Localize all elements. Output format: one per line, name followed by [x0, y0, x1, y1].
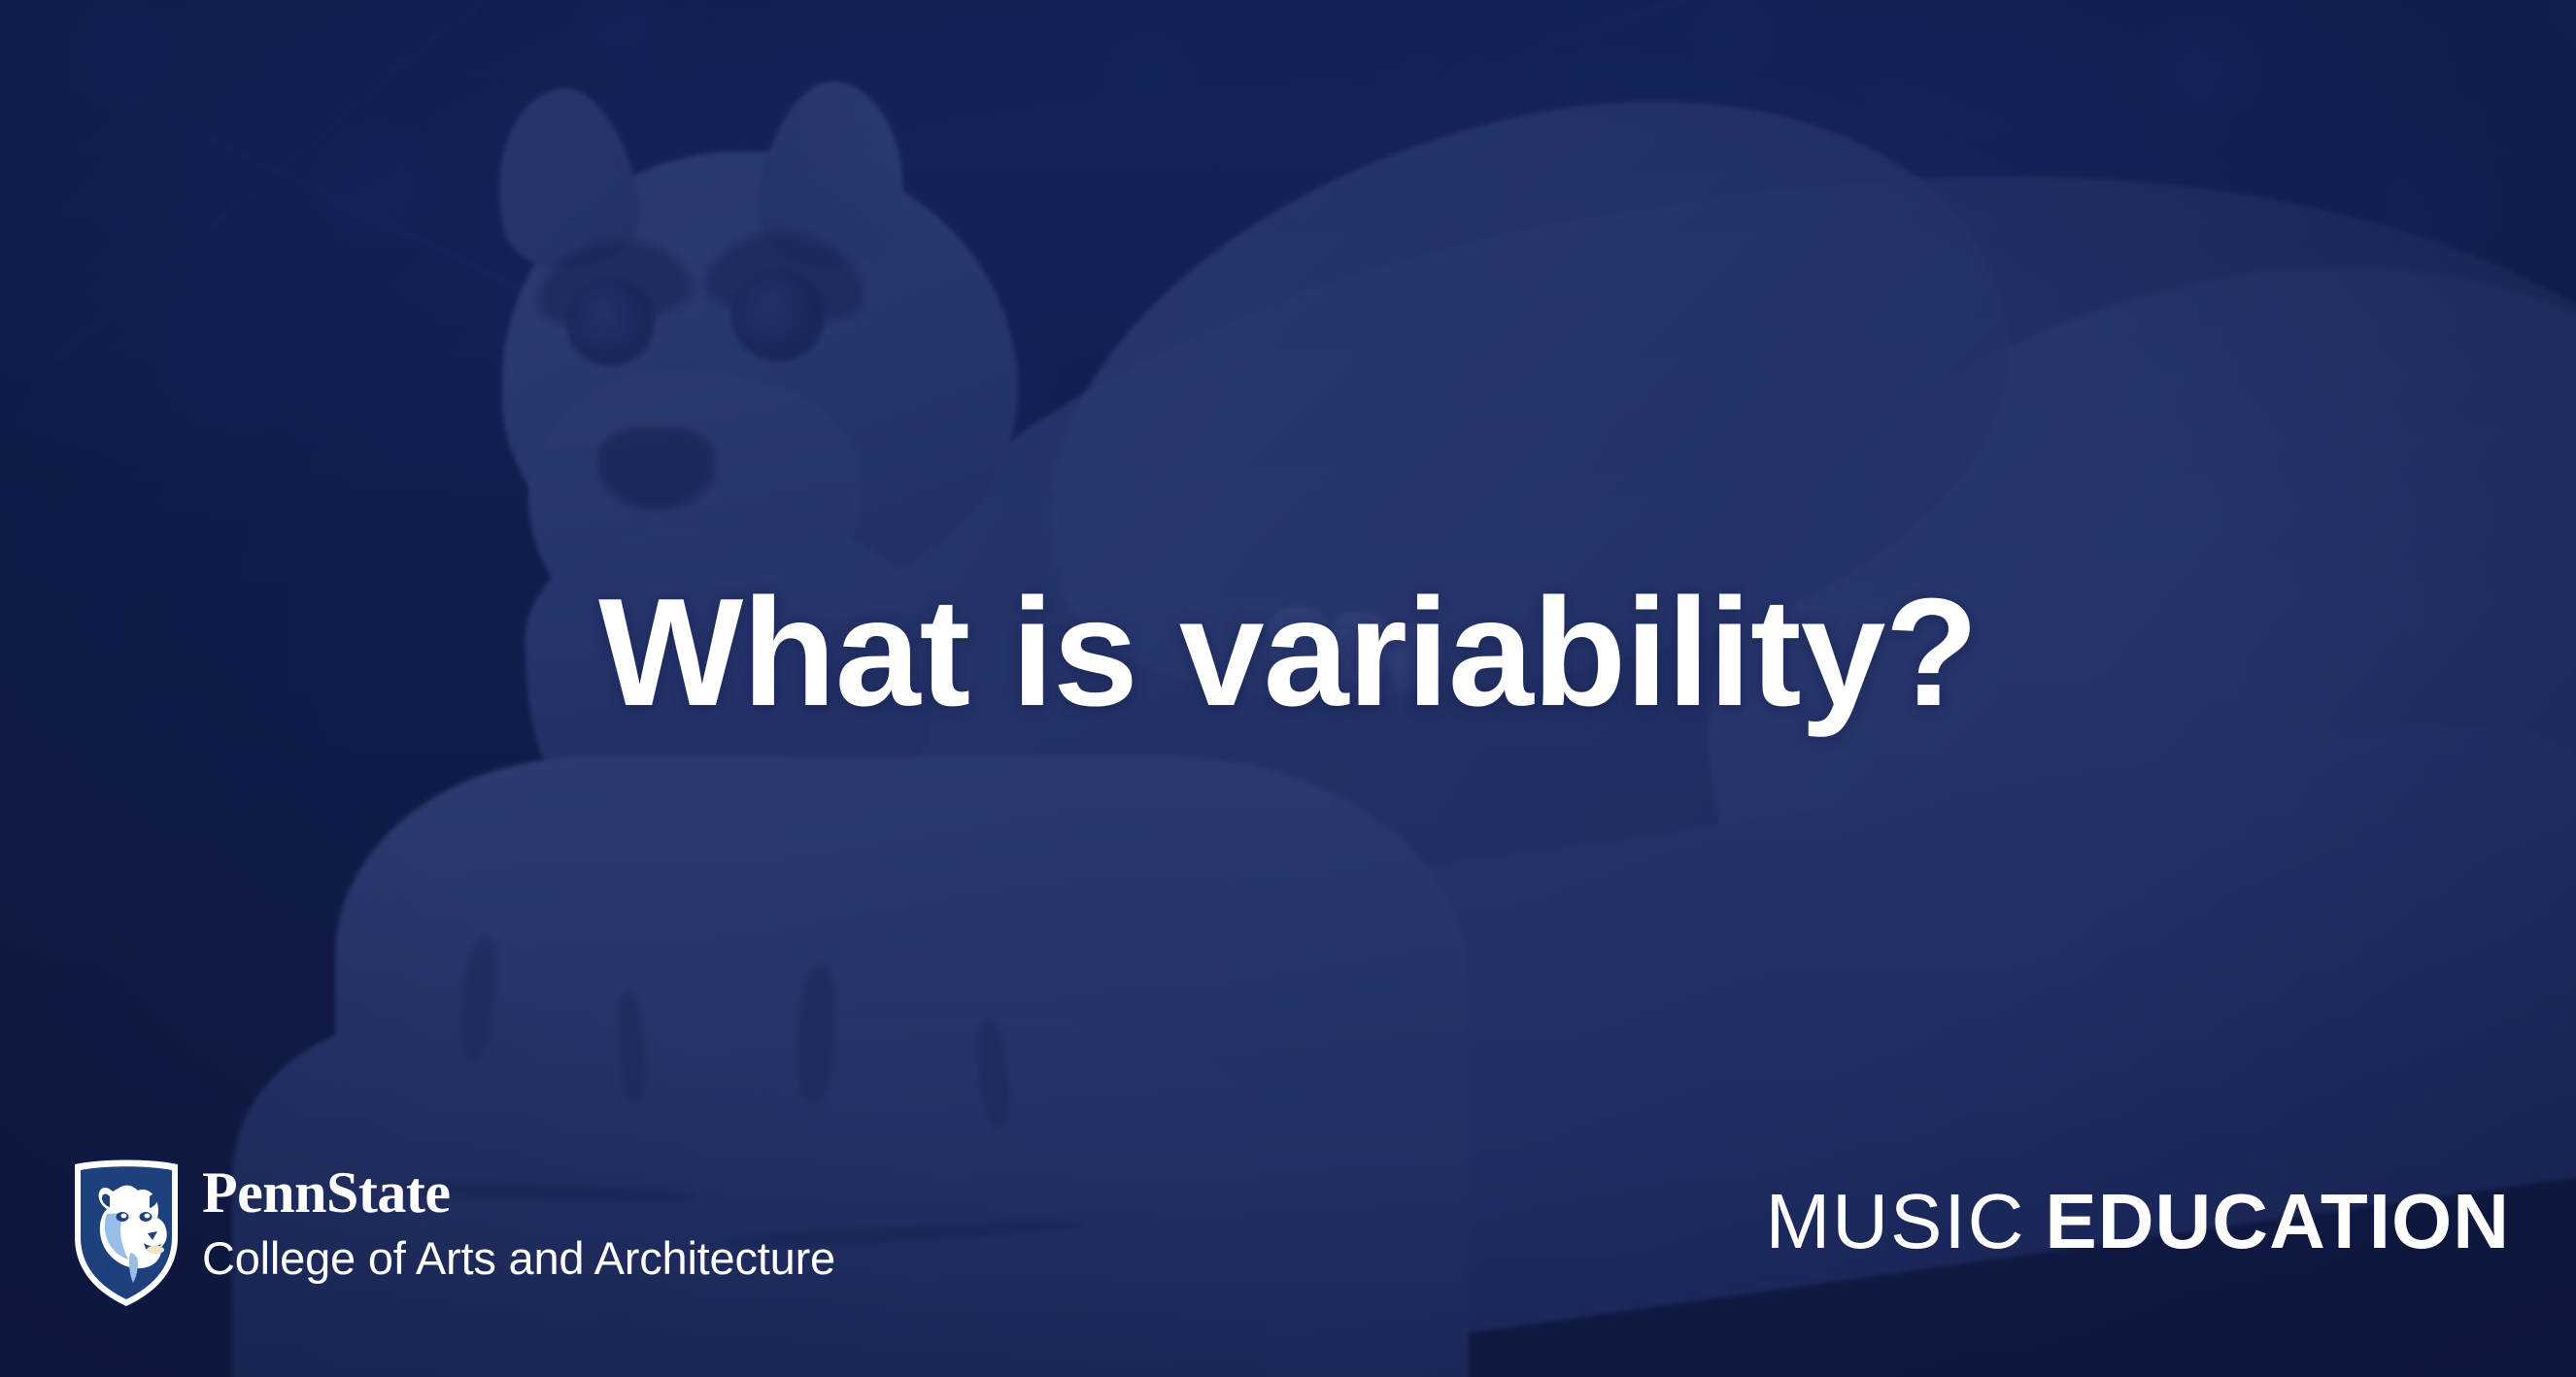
slide-title: What is variability?: [0, 573, 2576, 734]
penn-state-logo-lockup: PennState College of Arts and Architectu…: [72, 1156, 835, 1309]
music-education-word-education: EDUCATION: [2045, 1177, 2510, 1266]
presentation-slide: What is variability? PennState College o: [0, 0, 2576, 1377]
penn-state-wordmark-group: PennState College of Arts and Architectu…: [202, 1156, 835, 1285]
music-education-logo: MUSIC EDUCATION: [1766, 1177, 2510, 1266]
penn-state-lion-shield-icon: [72, 1156, 181, 1309]
penn-state-unit-name: College of Arts and Architecture: [202, 1233, 835, 1285]
penn-state-wordmark: PennState: [202, 1163, 835, 1222]
music-education-word-music: MUSIC: [1766, 1177, 2026, 1266]
